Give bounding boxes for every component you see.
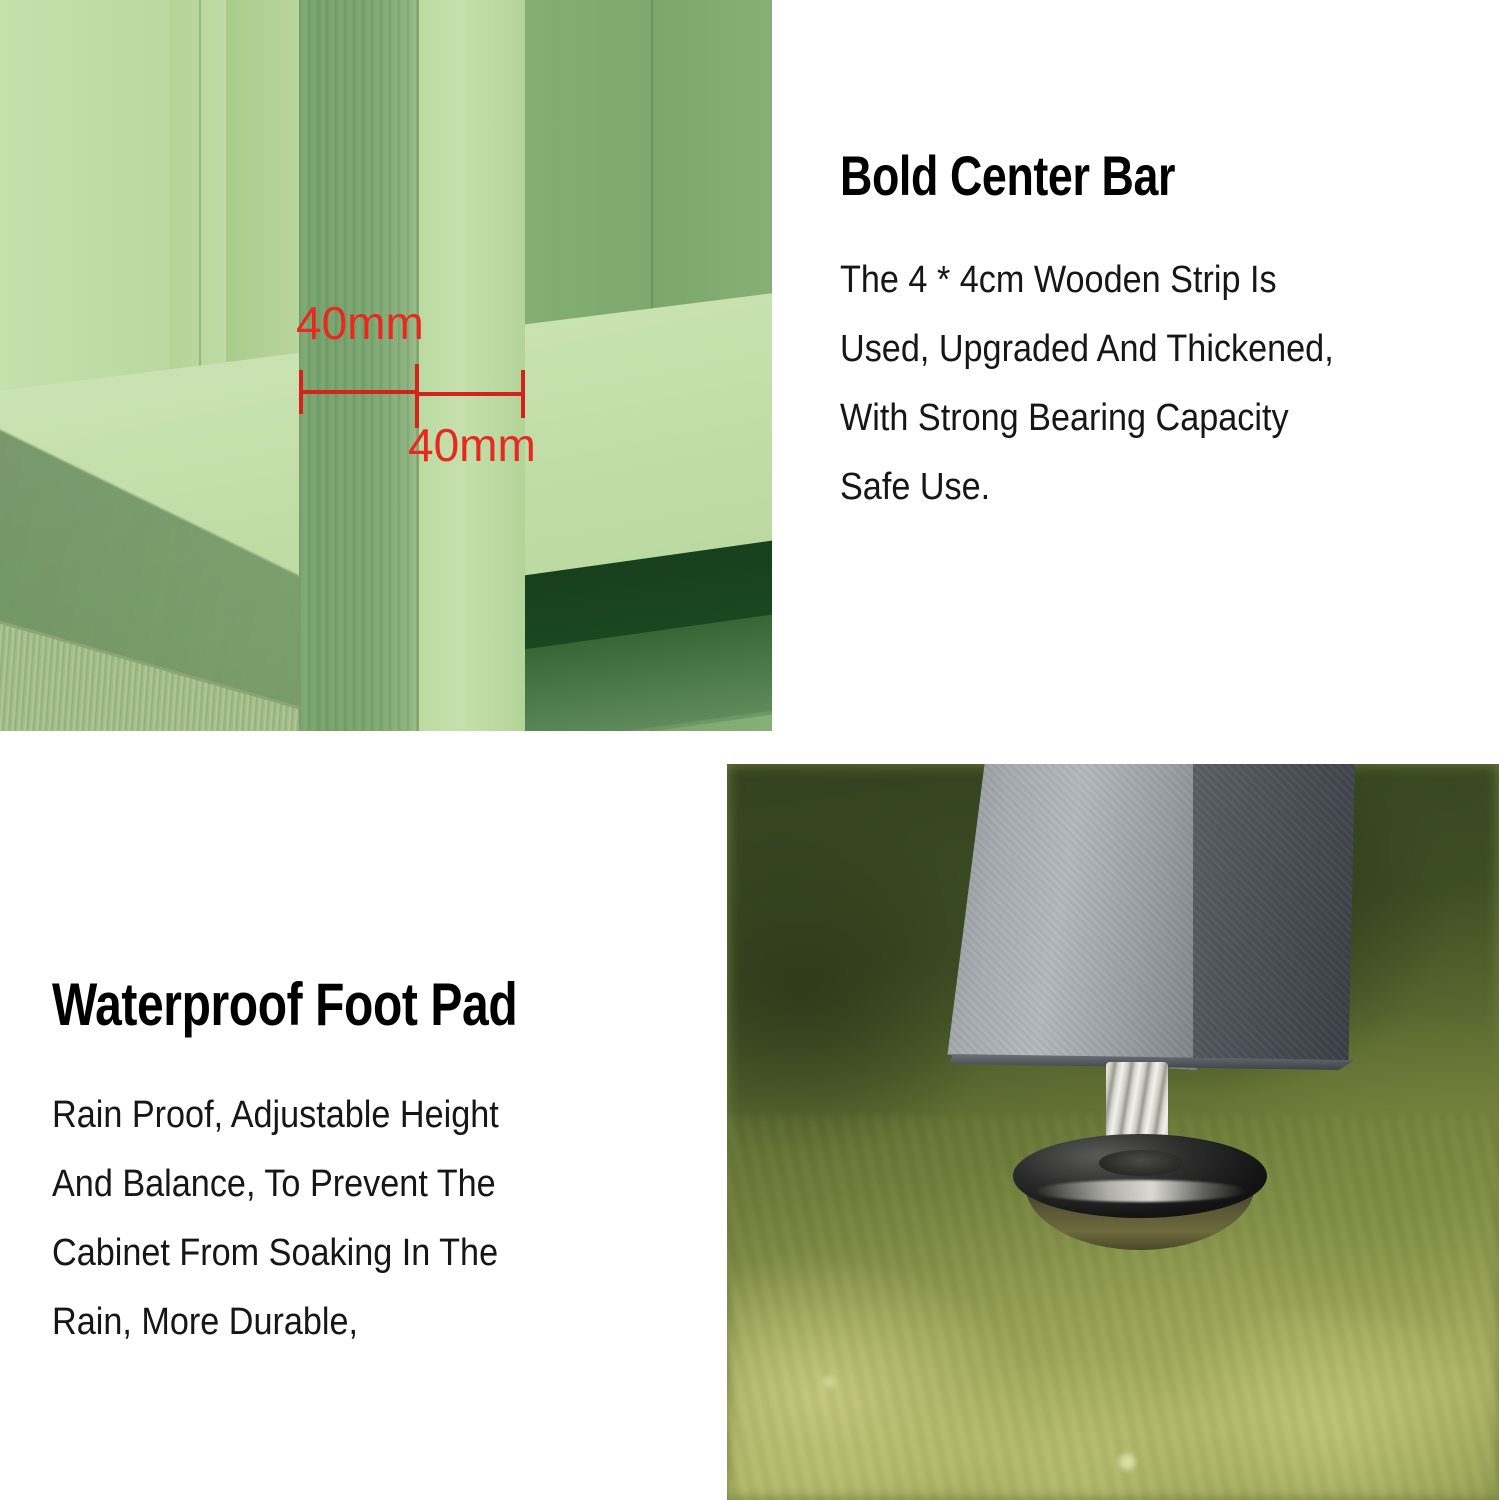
center-bar-line-2: Used, Upgraded And Thickened, [840, 315, 1416, 384]
dimension-label-width: 40mm [296, 300, 424, 346]
leg-side-face [1193, 764, 1355, 1062]
leg-texture [945, 764, 1197, 1070]
center-bar-description: The 4 * 4cm Wooden Strip Is Used, Upgrad… [840, 246, 1416, 523]
dimension-line-width [299, 390, 419, 394]
foot-pad-line-2: And Balance, To Prevent The [52, 1150, 646, 1219]
center-support-post [299, 0, 419, 731]
leg-front-face [945, 764, 1197, 1070]
foot-pad-text-block: Waterproof Foot Pad Rain Proof, Adjustab… [52, 975, 712, 1358]
waterproof-foot-pad-part [1013, 1134, 1267, 1254]
foot-pad-photo [727, 764, 1499, 1500]
center-bar-heading: Bold Center Bar [840, 148, 1352, 204]
foot-pad-line-4: Rain, More Durable, [52, 1288, 646, 1357]
grass-highlight-dot [1119, 1454, 1135, 1470]
pad-top-surface [1013, 1134, 1267, 1218]
foot-pad-line-1: Rain Proof, Adjustable Height [52, 1081, 646, 1150]
center-bar-text-block: Bold Center Bar The 4 * 4cm Wooden Strip… [840, 148, 1480, 523]
foot-pad-description: Rain Proof, Adjustable Height And Balanc… [52, 1081, 646, 1358]
center-bar-line-3: With Strong Bearing Capacity [840, 384, 1416, 453]
cabinet-scene: 40mm 40mm [0, 0, 772, 731]
leg-side-texture [1193, 764, 1355, 1062]
dimension-label-depth: 40mm [408, 422, 536, 468]
dimension-tick-left [299, 370, 303, 414]
center-bar-photo: 40mm 40mm [0, 0, 772, 731]
pad-gloss-highlight [1035, 1180, 1247, 1202]
post-side-face [419, 0, 525, 731]
center-bar-line-4: Safe Use. [840, 453, 1416, 522]
dimension-line-depth [417, 392, 525, 396]
pad-center-hole [1099, 1150, 1183, 1176]
post-wood-grain [299, 0, 419, 731]
cabinet-leg [945, 764, 1355, 1076]
grass-highlight-dot-2 [823, 1376, 835, 1388]
foot-pad-heading: Waterproof Foot Pad [52, 975, 580, 1035]
center-bar-line-1: The 4 * 4cm Wooden Strip Is [840, 246, 1416, 315]
dimension-tick-right [521, 370, 525, 418]
foot-pad-line-3: Cabinet From Soaking In The [52, 1219, 646, 1288]
